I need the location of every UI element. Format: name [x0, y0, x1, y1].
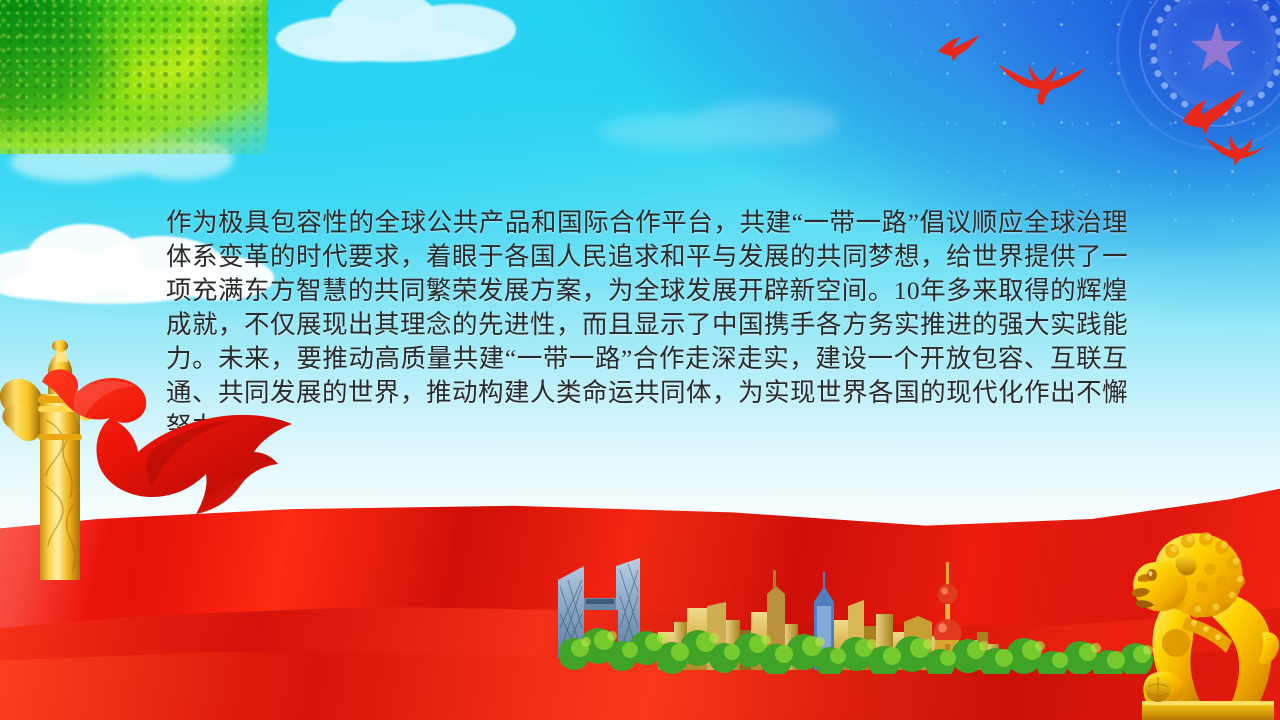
article-body-text: 作为极具包容性的全球公共产品和国际合作平台，共建“一带一路”倡议顺应全球治理体系…: [166, 206, 1128, 444]
poster-canvas: 作为极具包容性的全球公共产品和国际合作平台，共建“一带一路”倡议顺应全球治理体系…: [0, 0, 1280, 720]
